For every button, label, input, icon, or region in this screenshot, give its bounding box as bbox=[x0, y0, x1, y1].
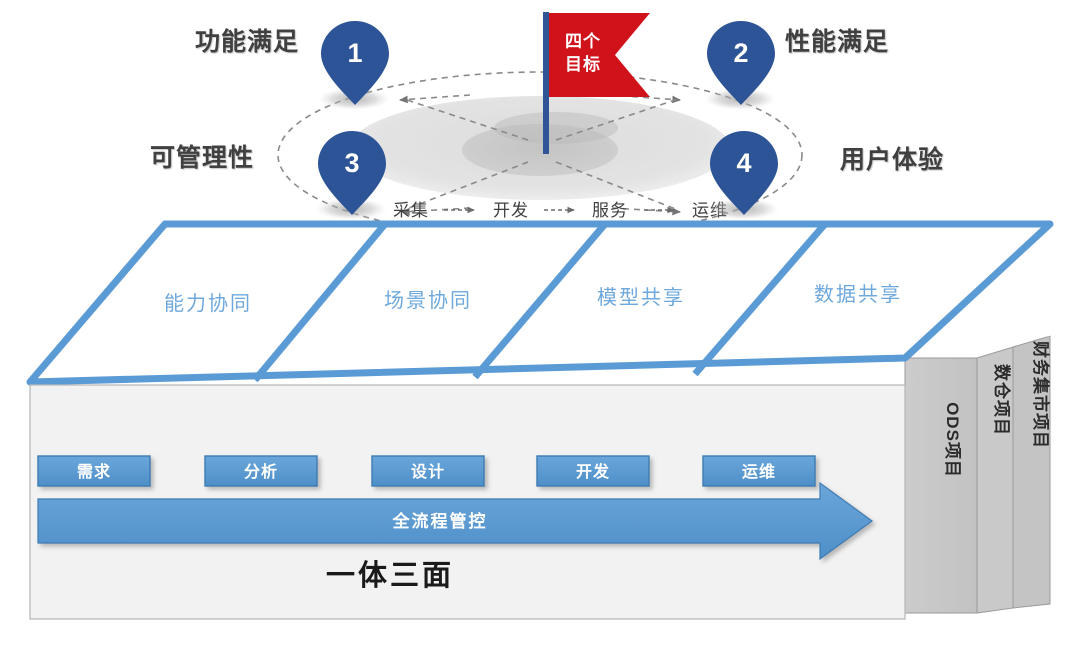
process-button-label: 分析 bbox=[244, 462, 278, 481]
diagram-canvas: 采集 开发 服务 运维 1 2 3 bbox=[0, 0, 1080, 651]
goal-pin-3[interactable]: 3 bbox=[315, 131, 387, 220]
goal-label-1: 功能满足 bbox=[195, 22, 299, 58]
process-button-label: 需求 bbox=[77, 462, 111, 481]
side-panel-label-1: 数仓项目 bbox=[992, 364, 1012, 436]
side-panel-label-2: 财务集市项目 bbox=[1031, 340, 1051, 449]
goal-pin-number-2: 2 bbox=[733, 38, 748, 68]
top-panel-label-0: 能力协同 bbox=[164, 292, 252, 315]
flag-text-line2: 目标 bbox=[565, 54, 601, 74]
flag-pole bbox=[543, 12, 549, 154]
goal-label-3: 可管理性 bbox=[150, 138, 254, 174]
goal-label-2: 性能满足 bbox=[785, 22, 889, 58]
process-button-0[interactable]: 需求 bbox=[38, 456, 150, 486]
flow-step-1: 开发 bbox=[493, 201, 529, 220]
top-panel-label-1: 场景协同 bbox=[384, 289, 472, 312]
goal-pin-number-1: 1 bbox=[347, 38, 362, 68]
top-panel-label-2: 模型共享 bbox=[597, 286, 685, 309]
side-panel-ods[interactable] bbox=[905, 358, 977, 613]
flow-step-0: 采集 bbox=[393, 201, 429, 220]
goal-label-4: 用户体验 bbox=[840, 140, 944, 176]
goal-pin-1[interactable]: 1 bbox=[318, 21, 390, 110]
process-button-label: 开发 bbox=[576, 462, 610, 481]
flow-step-2: 服务 bbox=[592, 201, 628, 220]
side-panel-label-0: ODS项目 bbox=[943, 402, 962, 478]
process-button-3[interactable]: 开发 bbox=[537, 456, 649, 486]
center-disc-group bbox=[350, 96, 730, 200]
goal-pin-number-3: 3 bbox=[344, 148, 359, 178]
process-button-2[interactable]: 设计 bbox=[372, 456, 484, 486]
orbit-arrow-tl bbox=[400, 95, 470, 100]
diagram-scene: 采集 开发 服务 运维 1 2 3 bbox=[0, 0, 1080, 651]
process-button-1[interactable]: 分析 bbox=[205, 456, 317, 486]
bottom-title: 一体三面 bbox=[326, 559, 454, 592]
goal-pin-number-4: 4 bbox=[736, 148, 751, 178]
side-panels-group bbox=[905, 336, 1050, 613]
goal-pin-2[interactable]: 2 bbox=[704, 21, 776, 110]
process-button-label: 运维 bbox=[742, 462, 776, 481]
process-arrow-label: 全流程管控 bbox=[392, 511, 488, 531]
lifecycle-flow: 采集 开发 服务 运维 bbox=[393, 201, 728, 220]
flag-text-line1: 四个 bbox=[565, 31, 601, 51]
top-plate-group: 能力协同 场景协同 模型共享 数据共享 bbox=[30, 224, 1050, 382]
process-button-label: 设计 bbox=[411, 462, 445, 481]
process-button-4[interactable]: 运维 bbox=[703, 456, 815, 486]
top-panel-label-3: 数据共享 bbox=[814, 283, 902, 306]
goal-pin-4[interactable]: 4 bbox=[707, 131, 779, 220]
